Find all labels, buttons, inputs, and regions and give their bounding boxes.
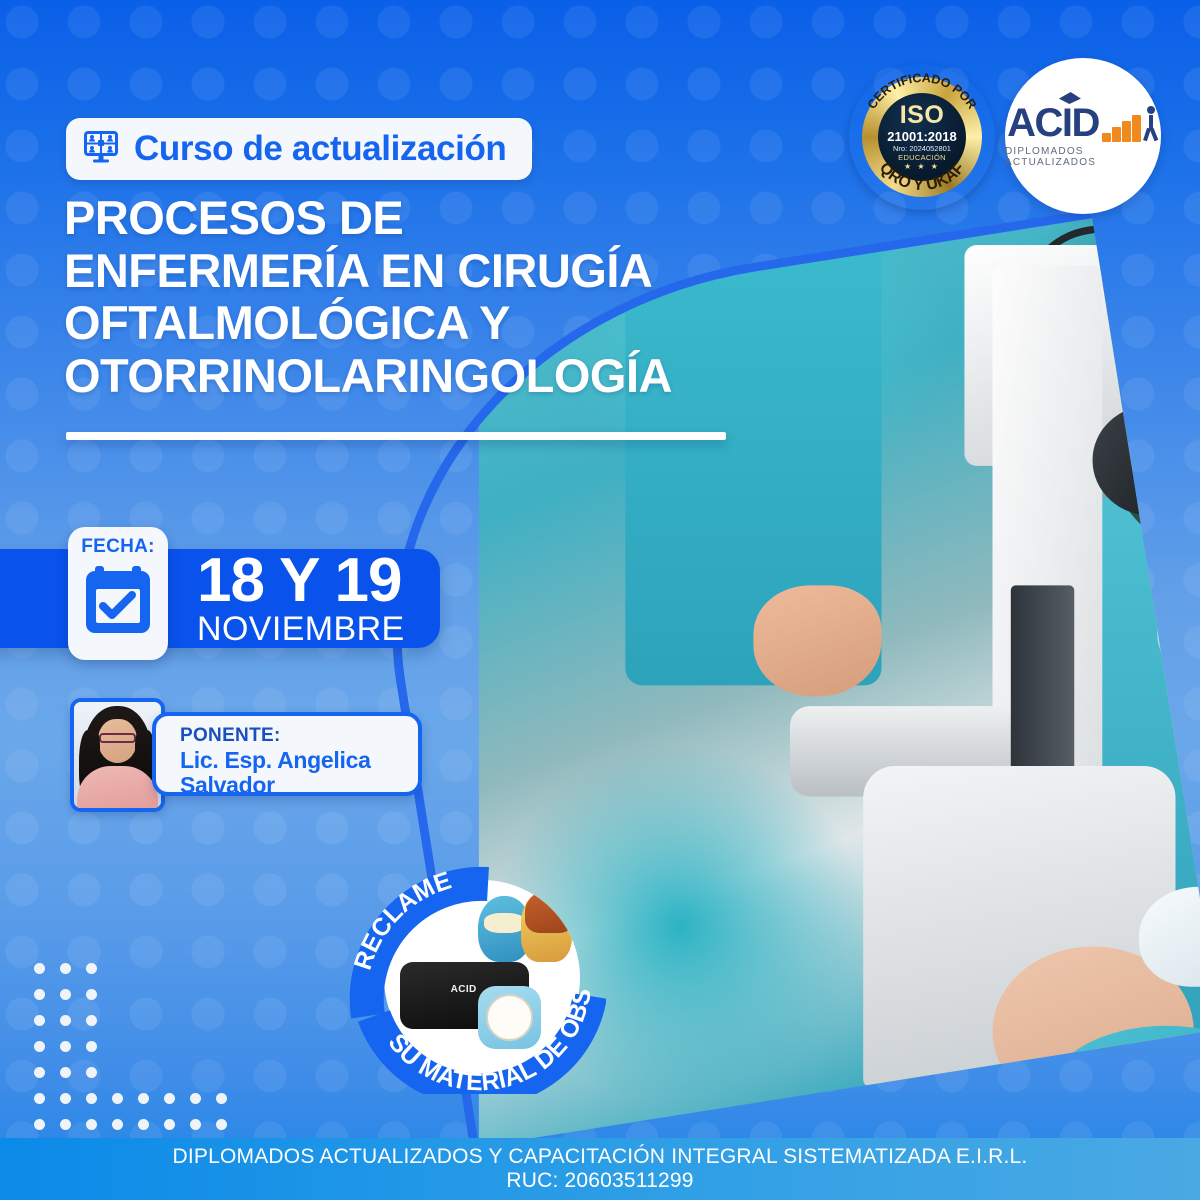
gift-badge: ACID RECLAME SU MATERIAL DE OBSEQUIO bbox=[338, 866, 606, 1094]
speaker-name-line-1: Lic. Esp. Angelica bbox=[180, 747, 371, 773]
footer-company: DIPLOMADOS ACTUALIZADOS Y CAPACITACIÓN I… bbox=[173, 1145, 1028, 1169]
date-days: 18 Y 19 bbox=[197, 551, 405, 612]
date-label: FECHA: bbox=[81, 536, 155, 558]
webinar-monitor-icon bbox=[84, 131, 118, 168]
date-text: 18 Y 19 NOVIEMBRE bbox=[197, 551, 405, 647]
acid-wordmark: ACID bbox=[1007, 104, 1099, 142]
title-line-4: OTORRINOLARINGOLOGÍA bbox=[64, 350, 764, 403]
iso-certification-badge: ISO 21001:2018 Nro: 2024052801 EDUCACIÓN… bbox=[849, 64, 995, 210]
iso-arc-bottom: QRO Y UKAF bbox=[876, 159, 968, 194]
title-line-3: OFTALMOLÓGICA Y bbox=[64, 297, 764, 350]
course-title: PROCESOS DE ENFERMERÍA EN CIRUGÍA OFTALM… bbox=[64, 192, 764, 403]
gift-arc-top: RECLAME bbox=[349, 866, 455, 973]
acid-subtitle: DIPLOMADOS ACTUALIZADOS bbox=[1005, 146, 1161, 168]
title-line-2: ENFERMERÍA EN CIRUGÍA bbox=[64, 245, 764, 298]
svg-text:CERTIFICADO POR: CERTIFICADO POR bbox=[865, 71, 979, 112]
date-month: NOVIEMBRE bbox=[197, 612, 405, 648]
acid-logo: ACID DIPLOMADOS ACTUALIZADOS bbox=[1005, 58, 1161, 214]
stairs-icon bbox=[1102, 115, 1141, 142]
title-divider bbox=[66, 432, 726, 440]
promotional-poster: Curso de actualización PROCESOS DE ENFER… bbox=[0, 0, 1200, 1200]
speaker-label: PONENTE: bbox=[180, 725, 404, 747]
calendar-check-icon bbox=[83, 563, 153, 642]
course-type-badge: Curso de actualización bbox=[66, 118, 532, 180]
svg-text:QRO Y UKAF: QRO Y UKAF bbox=[876, 159, 968, 194]
speaker-name-line-2: Salvador bbox=[180, 772, 275, 798]
title-line-1: PROCESOS DE bbox=[64, 192, 764, 245]
speaker-avatar bbox=[70, 698, 165, 812]
iso-arc-top: CERTIFICADO POR bbox=[865, 71, 979, 112]
footer-ruc: RUC: 20603511299 bbox=[506, 1169, 693, 1193]
climbing-person-icon bbox=[1143, 106, 1159, 142]
speaker-card: PONENTE: Lic. Esp. Angelica Salvador bbox=[152, 712, 422, 796]
date-card: FECHA: bbox=[68, 527, 168, 660]
svg-text:RECLAME: RECLAME bbox=[349, 866, 455, 973]
course-type-label: Curso de actualización bbox=[134, 129, 506, 169]
footer-bar: DIPLOMADOS ACTUALIZADOS Y CAPACITACIÓN I… bbox=[0, 1138, 1200, 1200]
